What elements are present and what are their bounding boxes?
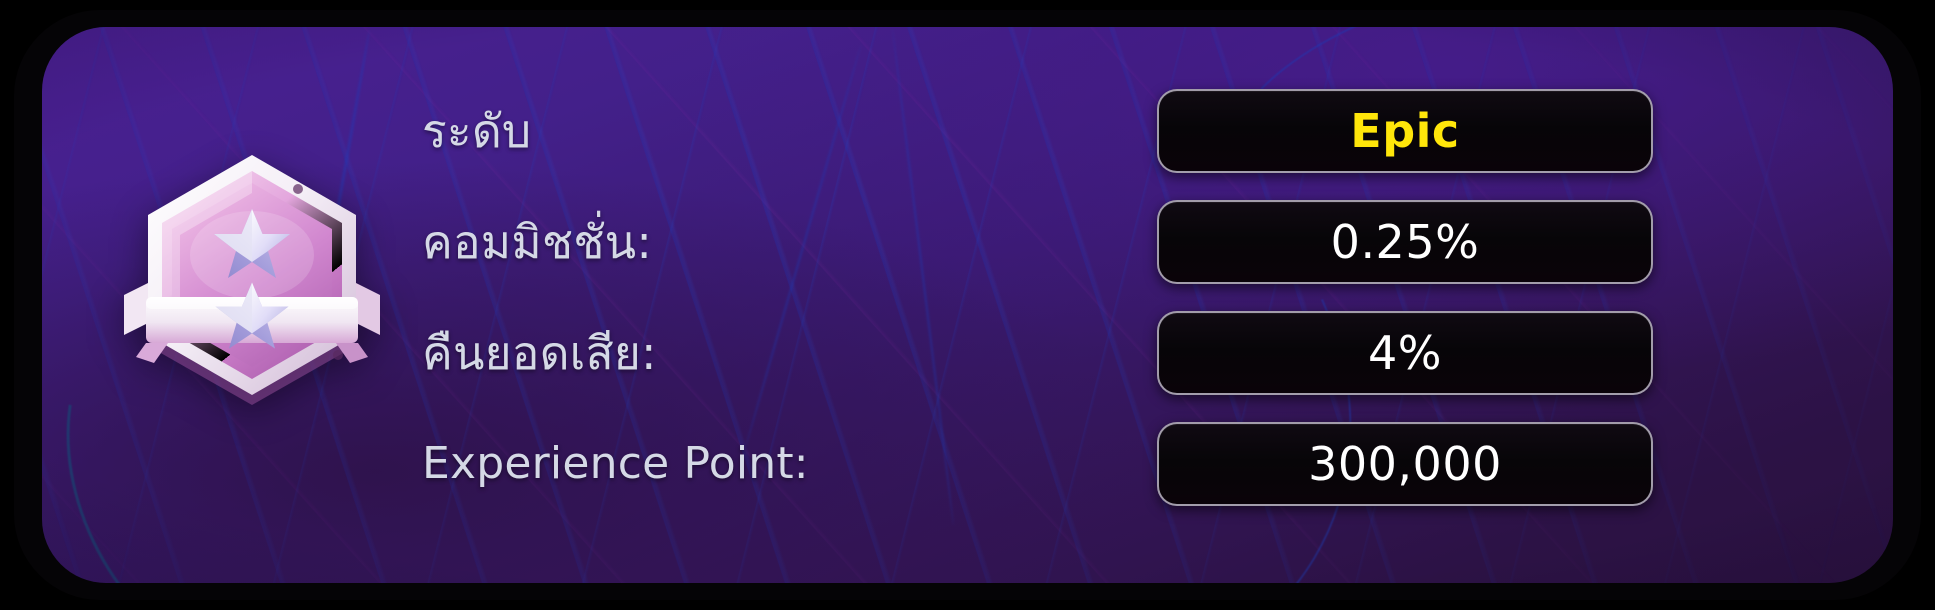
stat-value-rank: Epic <box>1350 108 1459 154</box>
stat-label-commission: คอมมิชชั่น: <box>422 219 852 265</box>
stat-row: ระดับ Epic <box>422 89 1842 173</box>
stat-label-experience-point: Experience Point: <box>422 442 852 486</box>
rank-badge <box>102 127 402 427</box>
stat-row: คืนยอดเสีย: 4% <box>422 311 1842 395</box>
stat-value-cashback: 4% <box>1368 330 1442 376</box>
stat-row: Experience Point: 300,000 <box>422 422 1842 506</box>
stat-value-commission: 0.25% <box>1331 219 1480 265</box>
stat-label-cashback: คืนยอดเสีย: <box>422 330 852 376</box>
stat-value-box-cashback[interactable]: 4% <box>1157 311 1653 395</box>
stat-value-box-experience-point[interactable]: 300,000 <box>1157 422 1653 506</box>
stat-value-box-commission[interactable]: 0.25% <box>1157 200 1653 284</box>
epic-rank-hexagon-badge <box>102 127 402 427</box>
stat-value-box-rank[interactable]: Epic <box>1157 89 1653 173</box>
rank-card: ระดับ Epic คอมมิชชั่น: 0.25% คืนยอดเสีย:… <box>42 27 1893 583</box>
stats-list: ระดับ Epic คอมมิชชั่น: 0.25% คืนยอดเสีย:… <box>422 89 1842 529</box>
stat-label-rank: ระดับ <box>422 108 852 154</box>
stat-value-experience-point: 300,000 <box>1308 441 1502 487</box>
stat-row: คอมมิชชั่น: 0.25% <box>422 200 1842 284</box>
rank-card-root: ระดับ Epic คอมมิชชั่น: 0.25% คืนยอดเสีย:… <box>0 0 1935 610</box>
